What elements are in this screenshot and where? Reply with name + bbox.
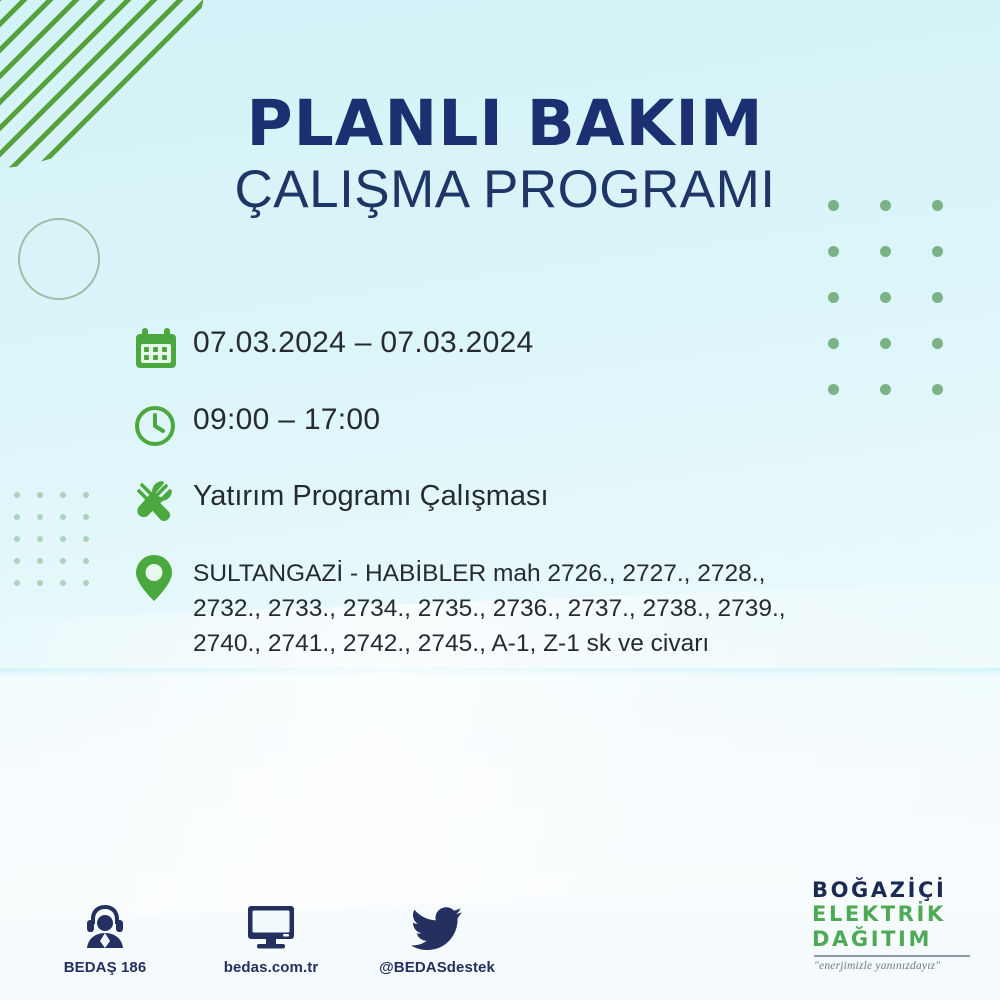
dot-grid-left-decoration (14, 492, 106, 602)
contact-twitter[interactable]: @BEDASdestek (378, 898, 496, 976)
outage-time-range: 09:00 – 17:00 (193, 397, 913, 437)
page-subtitle: ÇALIŞMA PROGRAMI (0, 160, 1000, 219)
logo-line-dagitim: DAĞITIM (812, 927, 984, 951)
location-pin-icon (133, 551, 193, 605)
detail-row-date: 07.03.2024 – 07.03.2024 (133, 320, 913, 378)
outage-address: SULTANGAZİ - HABİBLER mah 2726., 2727., … (193, 551, 913, 661)
monitor-icon (245, 898, 297, 950)
outage-date-range: 07.03.2024 – 07.03.2024 (193, 320, 913, 360)
clock-icon (133, 397, 193, 455)
circle-outline-decoration (18, 218, 100, 300)
address-line: SULTANGAZİ - HABİBLER mah 2726., 2727., … (193, 557, 913, 592)
address-line: 2732., 2733., 2734., 2735., 2736., 2737.… (193, 592, 913, 627)
call-center-agent-icon (82, 898, 128, 950)
bedas-logo: BOĞAZİÇİ ELEKTRİK DAĞITIM "enerjimizle y… (812, 878, 984, 972)
contact-label: bedas.com.tr (224, 959, 319, 976)
contact-call-center[interactable]: BEDAŞ 186 (46, 898, 164, 976)
page-title: PLANLI BAKIM (0, 92, 1000, 156)
footer-contacts: BEDAŞ 186 bedas.com.tr @BEDASdestek (46, 898, 496, 976)
poster-root: PLANLI BAKIM ÇALIŞMA PROGRAMI (0, 0, 1000, 1000)
calendar-icon (133, 320, 193, 378)
detail-row-time: 09:00 – 17:00 (133, 397, 913, 455)
twitter-bird-icon (411, 898, 463, 950)
tools-icon (133, 474, 193, 532)
detail-row-work-type: Yatırım Programı Çalışması (133, 474, 913, 532)
outage-details: 07.03.2024 – 07.03.2024 09:00 – 17:00 (133, 320, 913, 661)
outage-work-type: Yatırım Programı Çalışması (193, 474, 913, 513)
contact-label: @BEDASdestek (379, 959, 495, 976)
contact-label: BEDAŞ 186 (64, 959, 147, 976)
logo-line-bogazici: BOĞAZİÇİ (812, 878, 984, 902)
contact-website[interactable]: bedas.com.tr (212, 898, 330, 976)
detail-row-location: SULTANGAZİ - HABİBLER mah 2726., 2727., … (133, 551, 913, 661)
logo-divider (814, 955, 970, 957)
address-line: 2740., 2741., 2742., 2745., A-1, Z-1 sk … (193, 627, 913, 662)
logo-line-elektrik: ELEKTRİK (812, 902, 984, 926)
logo-tagline: "enerjimizle yanınızdayız" (812, 960, 984, 972)
poster-header: PLANLI BAKIM ÇALIŞMA PROGRAMI (0, 92, 1000, 220)
